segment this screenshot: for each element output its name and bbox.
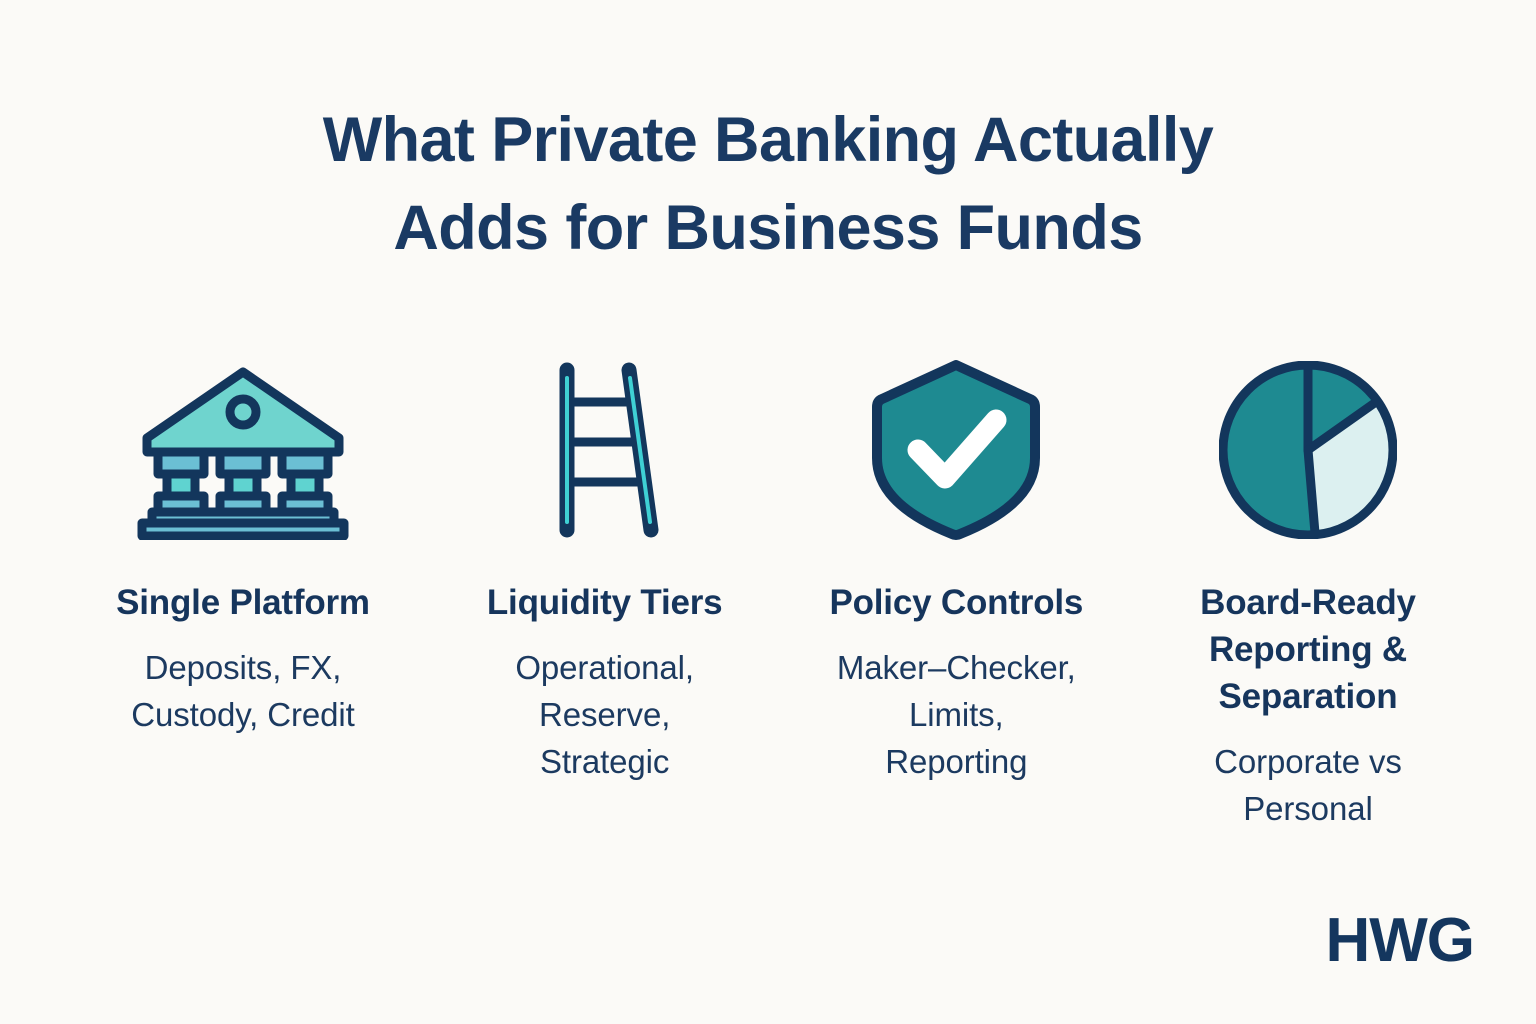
feature-cards-row: Single Platform Deposits, FX,Custody, Cr… (78, 355, 1458, 832)
ladder-icon (545, 355, 665, 545)
feature-card-board-ready-reporting: Board-Ready Reporting & Separation Corpo… (1158, 355, 1458, 832)
feature-card-policy-controls: Policy Controls Maker–Checker,Limits,Rep… (801, 355, 1111, 785)
card-description: Corporate vsPersonal (1214, 738, 1402, 832)
pie-chart-icon (1219, 355, 1397, 545)
title-line-1: What Private Banking Actually (0, 96, 1536, 184)
feature-card-single-platform: Single Platform Deposits, FX,Custody, Cr… (78, 355, 408, 738)
infographic-canvas: What Private Banking Actually Adds for B… (0, 0, 1536, 1024)
card-title: Liquidity Tiers (487, 579, 723, 626)
page-title: What Private Banking Actually Adds for B… (0, 96, 1536, 272)
card-title: Board-Ready Reporting & Separation (1158, 579, 1458, 720)
card-title: Policy Controls (829, 579, 1083, 626)
bank-icon (136, 355, 350, 545)
title-line-2: Adds for Business Funds (0, 184, 1536, 272)
card-title: Single Platform (116, 579, 370, 626)
card-description: Deposits, FX,Custody, Credit (131, 644, 354, 738)
shield-check-icon (870, 355, 1042, 545)
feature-card-liquidity-tiers: Liquidity Tiers Operational,Reserve,Stra… (455, 355, 755, 785)
brand-logo: HWG (1325, 910, 1474, 972)
card-description: Maker–Checker,Limits,Reporting (837, 644, 1076, 785)
card-description: Operational,Reserve,Strategic (515, 644, 694, 785)
